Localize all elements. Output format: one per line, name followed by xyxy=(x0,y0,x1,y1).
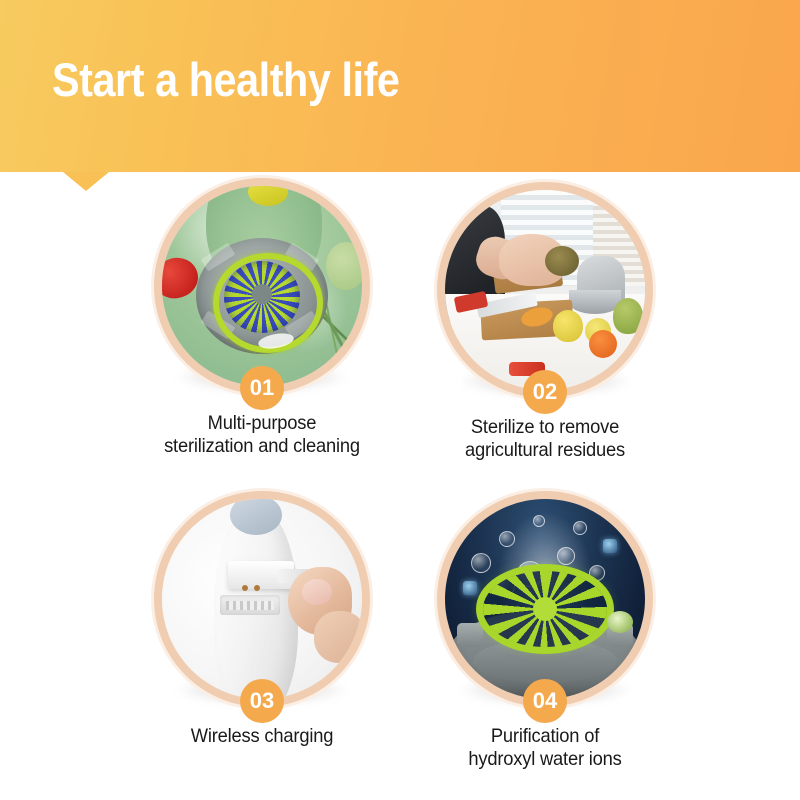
feature-image-wrap-04: 04 xyxy=(445,499,645,699)
feature-image-wrap-01: 01 xyxy=(162,186,362,386)
feature-caption-01: Multi-purpose sterilization and cleaning xyxy=(130,412,393,459)
feature-card-04[interactable]: 04 Purification of hydroxyl water ions xyxy=(405,499,685,772)
contact-pin xyxy=(254,585,260,591)
kiwi-fruit xyxy=(545,246,579,276)
index-finger xyxy=(314,611,362,663)
contact-pin xyxy=(242,585,248,591)
indicator-light xyxy=(607,611,633,633)
feature-caption-02: Sterilize to remove agricultural residue… xyxy=(413,416,676,463)
caption-line-1: Purification of xyxy=(413,725,676,748)
caption-line-1: Wireless charging xyxy=(130,725,393,748)
ion-particle xyxy=(463,581,477,595)
caption-line-2: hydroxyl water ions xyxy=(413,748,676,771)
bubble xyxy=(589,565,605,581)
caption-line-1: Multi-purpose xyxy=(130,412,393,435)
feature-grid: 01 Multi-purpose sterilization and clean… xyxy=(0,186,800,800)
scene-sterilizer-in-vegetable-water xyxy=(162,186,362,386)
caption-line-2: sterilization and cleaning xyxy=(130,435,393,458)
page-title: Start a healthy life xyxy=(52,55,399,104)
header-banner: Start a healthy life xyxy=(0,0,800,172)
feature-caption-04: Purification of hydroxyl water ions xyxy=(413,725,676,772)
feature-card-03[interactable]: 03 Wireless charging xyxy=(122,499,402,748)
bubble xyxy=(533,515,545,527)
feature-card-02[interactable]: 02 Sterilize to remove agricultural resi… xyxy=(405,190,685,463)
port-contacts xyxy=(226,601,274,610)
feature-photo-01 xyxy=(162,186,362,386)
feature-number-badge-01: 01 xyxy=(240,366,284,410)
feature-card-01[interactable]: 01 Multi-purpose sterilization and clean… xyxy=(122,186,402,459)
thumbnail xyxy=(302,579,332,605)
feature-photo-02 xyxy=(445,190,645,390)
base-tab xyxy=(457,623,483,647)
feature-number-badge-03: 03 xyxy=(240,679,284,723)
center-hub xyxy=(533,597,557,621)
feature-photo-04 xyxy=(445,499,645,699)
ion-particle xyxy=(603,539,617,553)
feature-number-badge-02: 02 xyxy=(523,370,567,414)
pear xyxy=(613,298,643,334)
bubble xyxy=(573,521,587,535)
feature-number-badge-04: 04 xyxy=(523,679,567,723)
feature-image-wrap-03: 03 xyxy=(162,499,362,699)
lemon-wedge xyxy=(553,310,583,342)
scene-sterilizer-underwater-bubbles xyxy=(445,499,645,699)
caption-line-1: Sterilize to remove xyxy=(413,416,676,439)
caption-line-2: agricultural residues xyxy=(413,439,676,462)
scene-kitchen-cutting-fruit xyxy=(445,190,645,390)
lettuce-piece xyxy=(326,242,362,290)
orange-fruit xyxy=(589,330,617,358)
scene-magnetic-charging-cable xyxy=(162,499,362,699)
feature-photo-03 xyxy=(162,499,362,699)
bubble xyxy=(499,531,515,547)
bubble xyxy=(557,547,575,565)
feature-image-wrap-02: 02 xyxy=(445,190,645,390)
center-hub xyxy=(252,284,272,304)
bubble xyxy=(471,553,491,573)
feature-caption-03: Wireless charging xyxy=(130,725,393,748)
